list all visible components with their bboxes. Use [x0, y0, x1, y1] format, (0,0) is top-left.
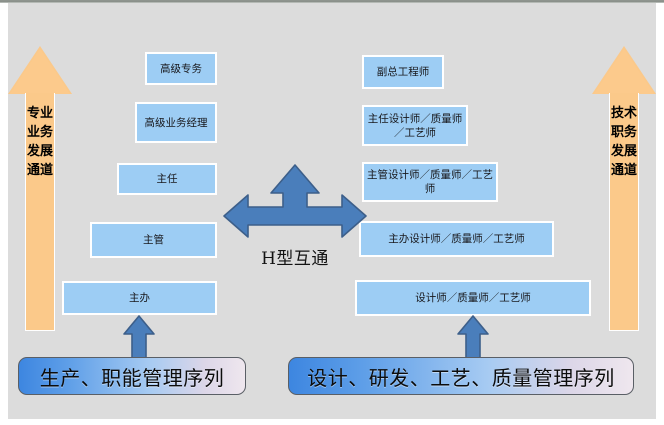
left-level-box[interactable]: 主任 — [117, 163, 217, 195]
left-channel-label: 专业业务发展通道 — [25, 104, 55, 180]
right-channel-label: 技术职务发展通道 — [609, 104, 639, 180]
h-interchange-label: H型互通 — [222, 244, 368, 269]
right-level-box[interactable]: 主管设计师／质量师／工艺师 — [362, 162, 498, 202]
right-level-box[interactable]: 主办设计师／质量师／工艺师 — [359, 221, 554, 257]
right-level-label: 主管设计师／质量师／工艺师 — [367, 168, 493, 196]
left-sequence-label: 生产、职能管理序列 — [40, 362, 225, 391]
left-level-label: 主任 — [157, 172, 178, 186]
right-level-box[interactable]: 主任设计师／质量师／工艺师 — [362, 105, 468, 146]
right-level-label: 主办设计师／质量师／工艺师 — [388, 232, 525, 246]
three-way-arrow-svg — [222, 163, 368, 241]
right-level-box[interactable]: 副总工程师 — [362, 55, 444, 89]
right-feed-arrow — [456, 315, 490, 359]
right-career-channel-arrow: 技术职务发展通道 — [592, 46, 656, 331]
right-level-label: 主任设计师／质量师／工艺师 — [367, 112, 463, 140]
left-level-label: 主管 — [143, 233, 164, 247]
left-level-label: 高级专务 — [160, 62, 202, 76]
right-level-box[interactable]: 设计师／质量师／工艺师 — [355, 280, 591, 316]
h-interchange-arrow — [222, 163, 368, 241]
left-level-box[interactable]: 高级业务经理 — [135, 102, 217, 143]
left-level-label: 高级业务经理 — [145, 116, 208, 130]
left-feed-arrow — [122, 315, 156, 359]
right-level-label: 设计师／质量师／工艺师 — [415, 291, 531, 305]
diagram-canvas: 专业业务发展通道 技术职务发展通道 高级专务 高级业务经理 主任 主管 主办 副… — [0, 0, 664, 425]
left-feed-arrow-svg — [122, 315, 156, 361]
right-level-label: 副总工程师 — [377, 65, 430, 79]
right-sequence-pill[interactable]: 设计、研发、工艺、质量管理序列 — [288, 357, 634, 395]
left-sequence-pill[interactable]: 生产、职能管理序列 — [18, 357, 246, 395]
left-level-box[interactable]: 高级专务 — [145, 52, 217, 85]
left-channel-arrowhead-inner — [10, 49, 70, 94]
left-level-box[interactable]: 主办 — [62, 281, 217, 315]
right-feed-arrow-svg — [456, 315, 490, 361]
diagram-stage: 专业业务发展通道 技术职务发展通道 高级专务 高级业务经理 主任 主管 主办 副… — [8, 3, 656, 419]
left-level-box[interactable]: 主管 — [90, 222, 217, 258]
left-level-label: 主办 — [129, 291, 150, 305]
right-channel-arrowhead-inner — [594, 49, 654, 94]
right-sequence-label: 设计、研发、工艺、质量管理序列 — [307, 362, 615, 391]
